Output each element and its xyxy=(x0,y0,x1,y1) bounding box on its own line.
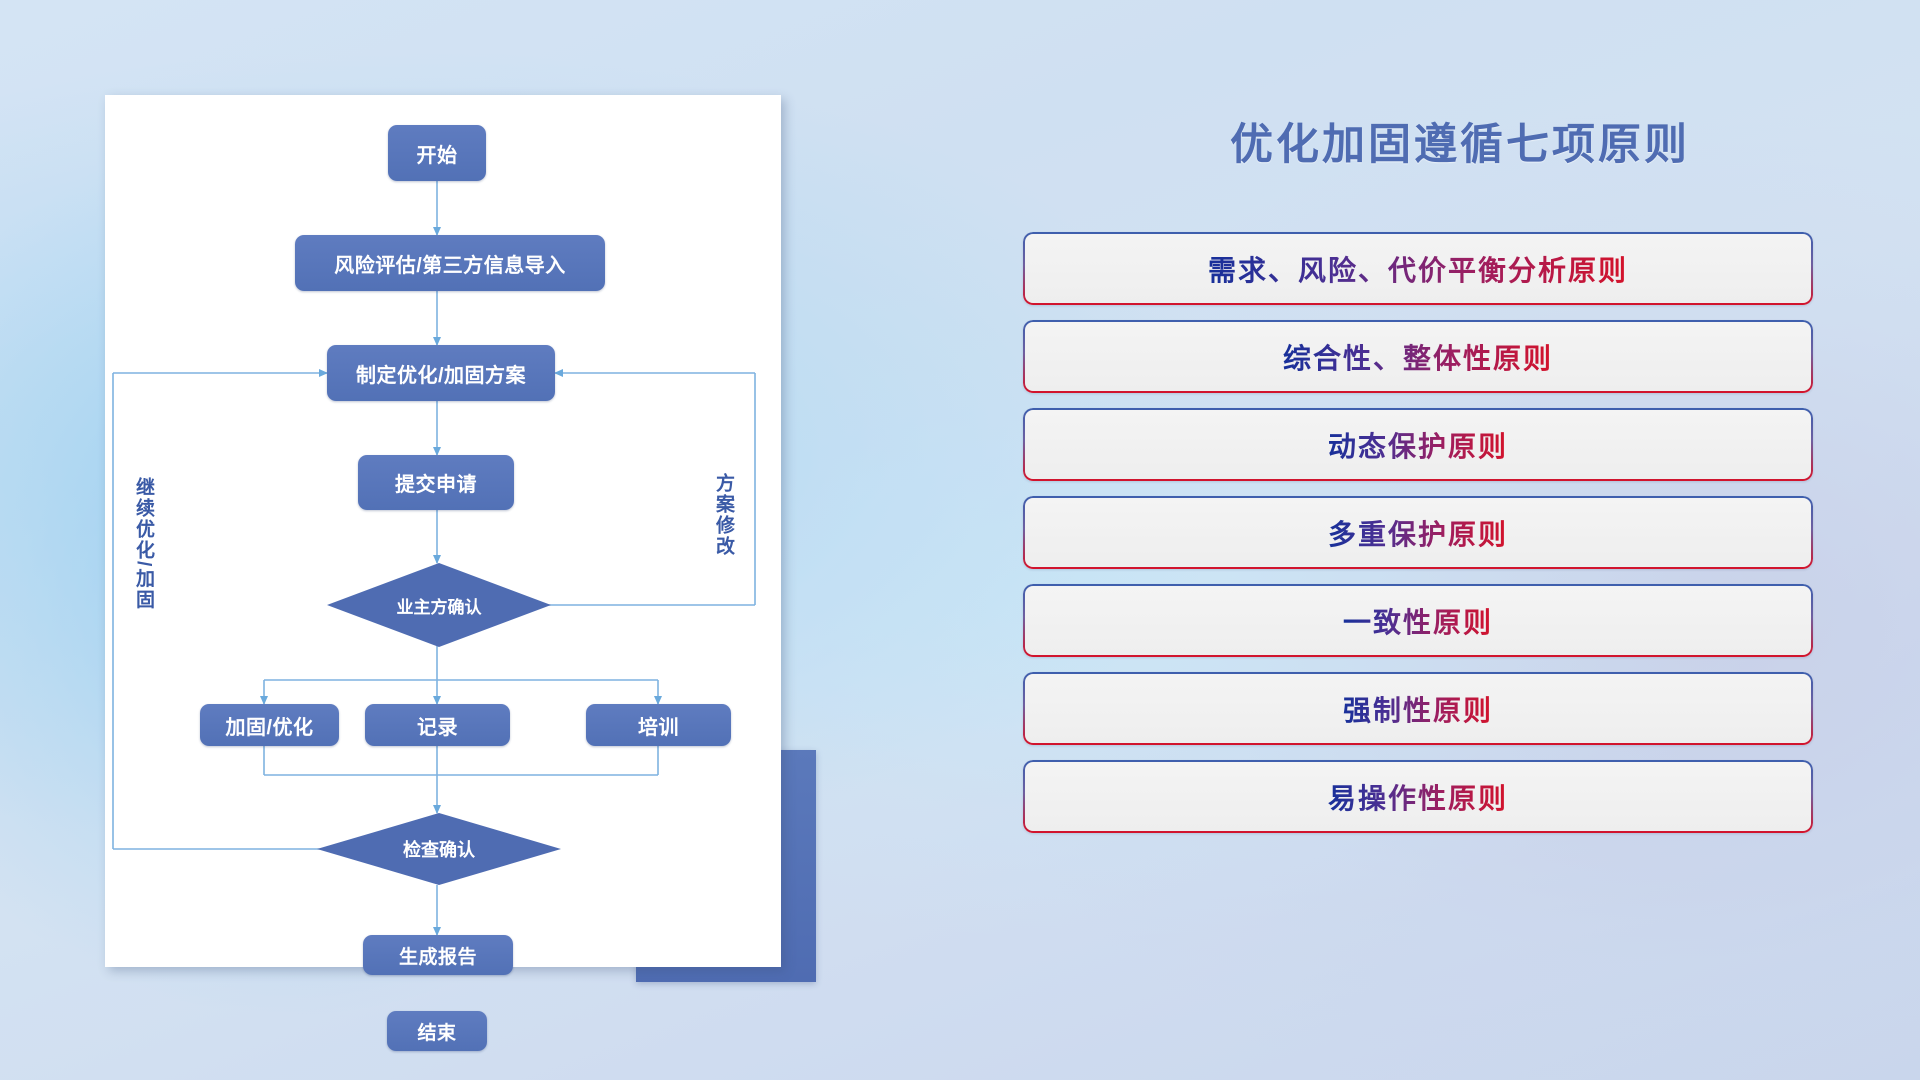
flow-node-label: 检查确认 xyxy=(403,836,475,862)
edge-label-continue-optimize: 继续优化/加固 xyxy=(133,477,153,610)
principles-title: 优化加固遵循七项原则 xyxy=(1150,110,1770,172)
flow-node-label: 风险评估/第三方信息导入 xyxy=(334,249,566,278)
flow-node-submit-application[interactable]: 提交申请 xyxy=(358,455,514,510)
flow-node-start[interactable]: 开始 xyxy=(388,125,486,181)
principle-label: 易操作性原则 xyxy=(1328,777,1508,817)
principle-label: 一致性原则 xyxy=(1343,601,1493,641)
principle-item[interactable]: 动态保护原则 xyxy=(1023,408,1813,481)
flow-node-label: 制定优化/加固方案 xyxy=(356,359,526,388)
principle-label: 动态保护原则 xyxy=(1328,425,1508,465)
flow-node-generate-report[interactable]: 生成报告 xyxy=(363,935,513,975)
principle-item[interactable]: 多重保护原则 xyxy=(1023,496,1813,569)
principle-label: 强制性原则 xyxy=(1343,689,1493,729)
flow-node-end[interactable]: 结束 xyxy=(387,1011,487,1051)
principle-item[interactable]: 易操作性原则 xyxy=(1023,760,1813,833)
principle-item[interactable]: 一致性原则 xyxy=(1023,584,1813,657)
principle-item[interactable]: 强制性原则 xyxy=(1023,672,1813,745)
flow-node-label: 开始 xyxy=(417,139,458,168)
flow-node-label: 培训 xyxy=(638,711,679,740)
principle-label: 综合性、整体性原则 xyxy=(1283,337,1553,377)
principle-label: 多重保护原则 xyxy=(1328,513,1508,553)
flow-node-harden-optimize[interactable]: 加固/优化 xyxy=(200,704,339,746)
flowchart: 开始 风险评估/第三方信息导入 制定优化/加固方案 提交申请 业主方确认 加固/… xyxy=(105,95,781,967)
flow-node-record[interactable]: 记录 xyxy=(365,704,510,746)
flow-node-label: 提交申请 xyxy=(395,468,477,497)
flow-node-label: 加固/优化 xyxy=(225,711,313,740)
flow-node-label: 记录 xyxy=(417,711,458,740)
principles-list: 需求、风险、代价平衡分析原则 综合性、整体性原则 动态保护原则 多重保护原则 一… xyxy=(1023,232,1813,848)
flow-node-risk-assessment[interactable]: 风险评估/第三方信息导入 xyxy=(295,235,605,291)
flow-node-label: 结束 xyxy=(417,1018,456,1045)
flowchart-card: 开始 风险评估/第三方信息导入 制定优化/加固方案 提交申请 业主方确认 加固/… xyxy=(105,95,781,967)
principle-label: 需求、风险、代价平衡分析原则 xyxy=(1208,249,1628,289)
flow-node-training[interactable]: 培训 xyxy=(586,704,731,746)
principle-item[interactable]: 需求、风险、代价平衡分析原则 xyxy=(1023,232,1813,305)
principle-item[interactable]: 综合性、整体性原则 xyxy=(1023,320,1813,393)
flow-node-label: 生成报告 xyxy=(399,942,477,969)
flow-node-plan[interactable]: 制定优化/加固方案 xyxy=(327,345,555,401)
slide-canvas: 开始 风险评估/第三方信息导入 制定优化/加固方案 提交申请 业主方确认 加固/… xyxy=(0,0,1920,1080)
flow-node-label: 业主方确认 xyxy=(397,593,482,618)
edge-label-plan-revision: 方案修改 xyxy=(713,473,733,557)
